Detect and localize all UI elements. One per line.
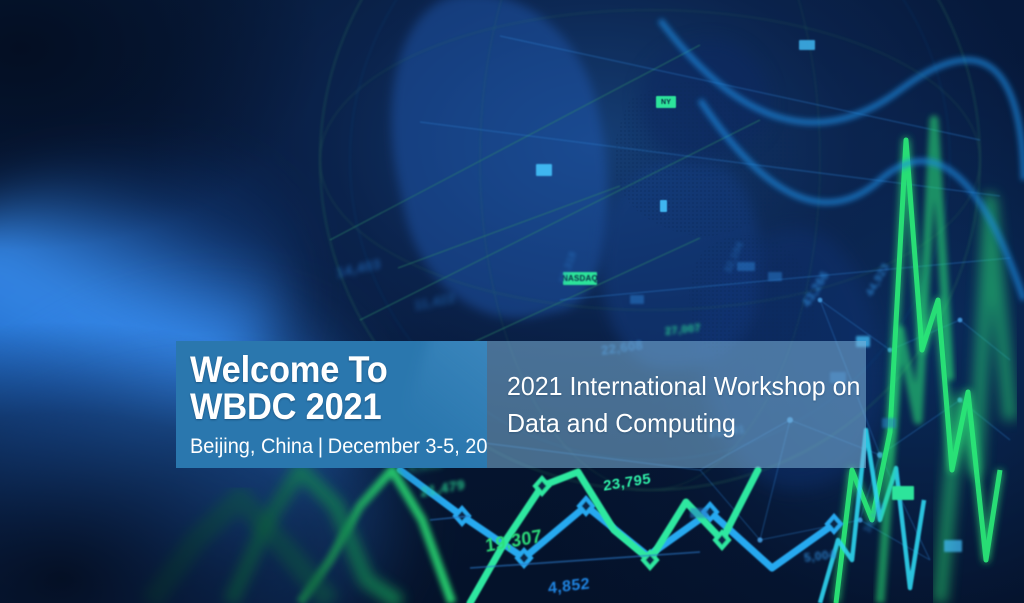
workshop-name-line-1: 2021 International Workshop on Big: [507, 368, 842, 405]
banner-right-panel: 2021 International Workshop on Big Data …: [487, 341, 866, 468]
banner-left-panel: Welcome To WBDC 2021 Beijing, China|Dece…: [176, 341, 487, 468]
vignette-overlay: [0, 0, 1024, 603]
event-title: Welcome To WBDC 2021: [190, 351, 466, 426]
event-dates: December 3-5, 2021: [328, 435, 487, 458]
workshop-name-line-2: Data and Computing: [507, 405, 842, 442]
event-banner: Welcome To WBDC 2021 Beijing, China|Dece…: [176, 341, 866, 468]
detail-separator: |: [313, 435, 328, 458]
event-location: Beijing, China: [190, 435, 313, 458]
banner-screenshot: NY NASDAQ 23,795 19,307 4,852 22,608 43,…: [0, 0, 1024, 603]
event-details: Beijing, China|December 3-5, 2021: [190, 435, 472, 458]
